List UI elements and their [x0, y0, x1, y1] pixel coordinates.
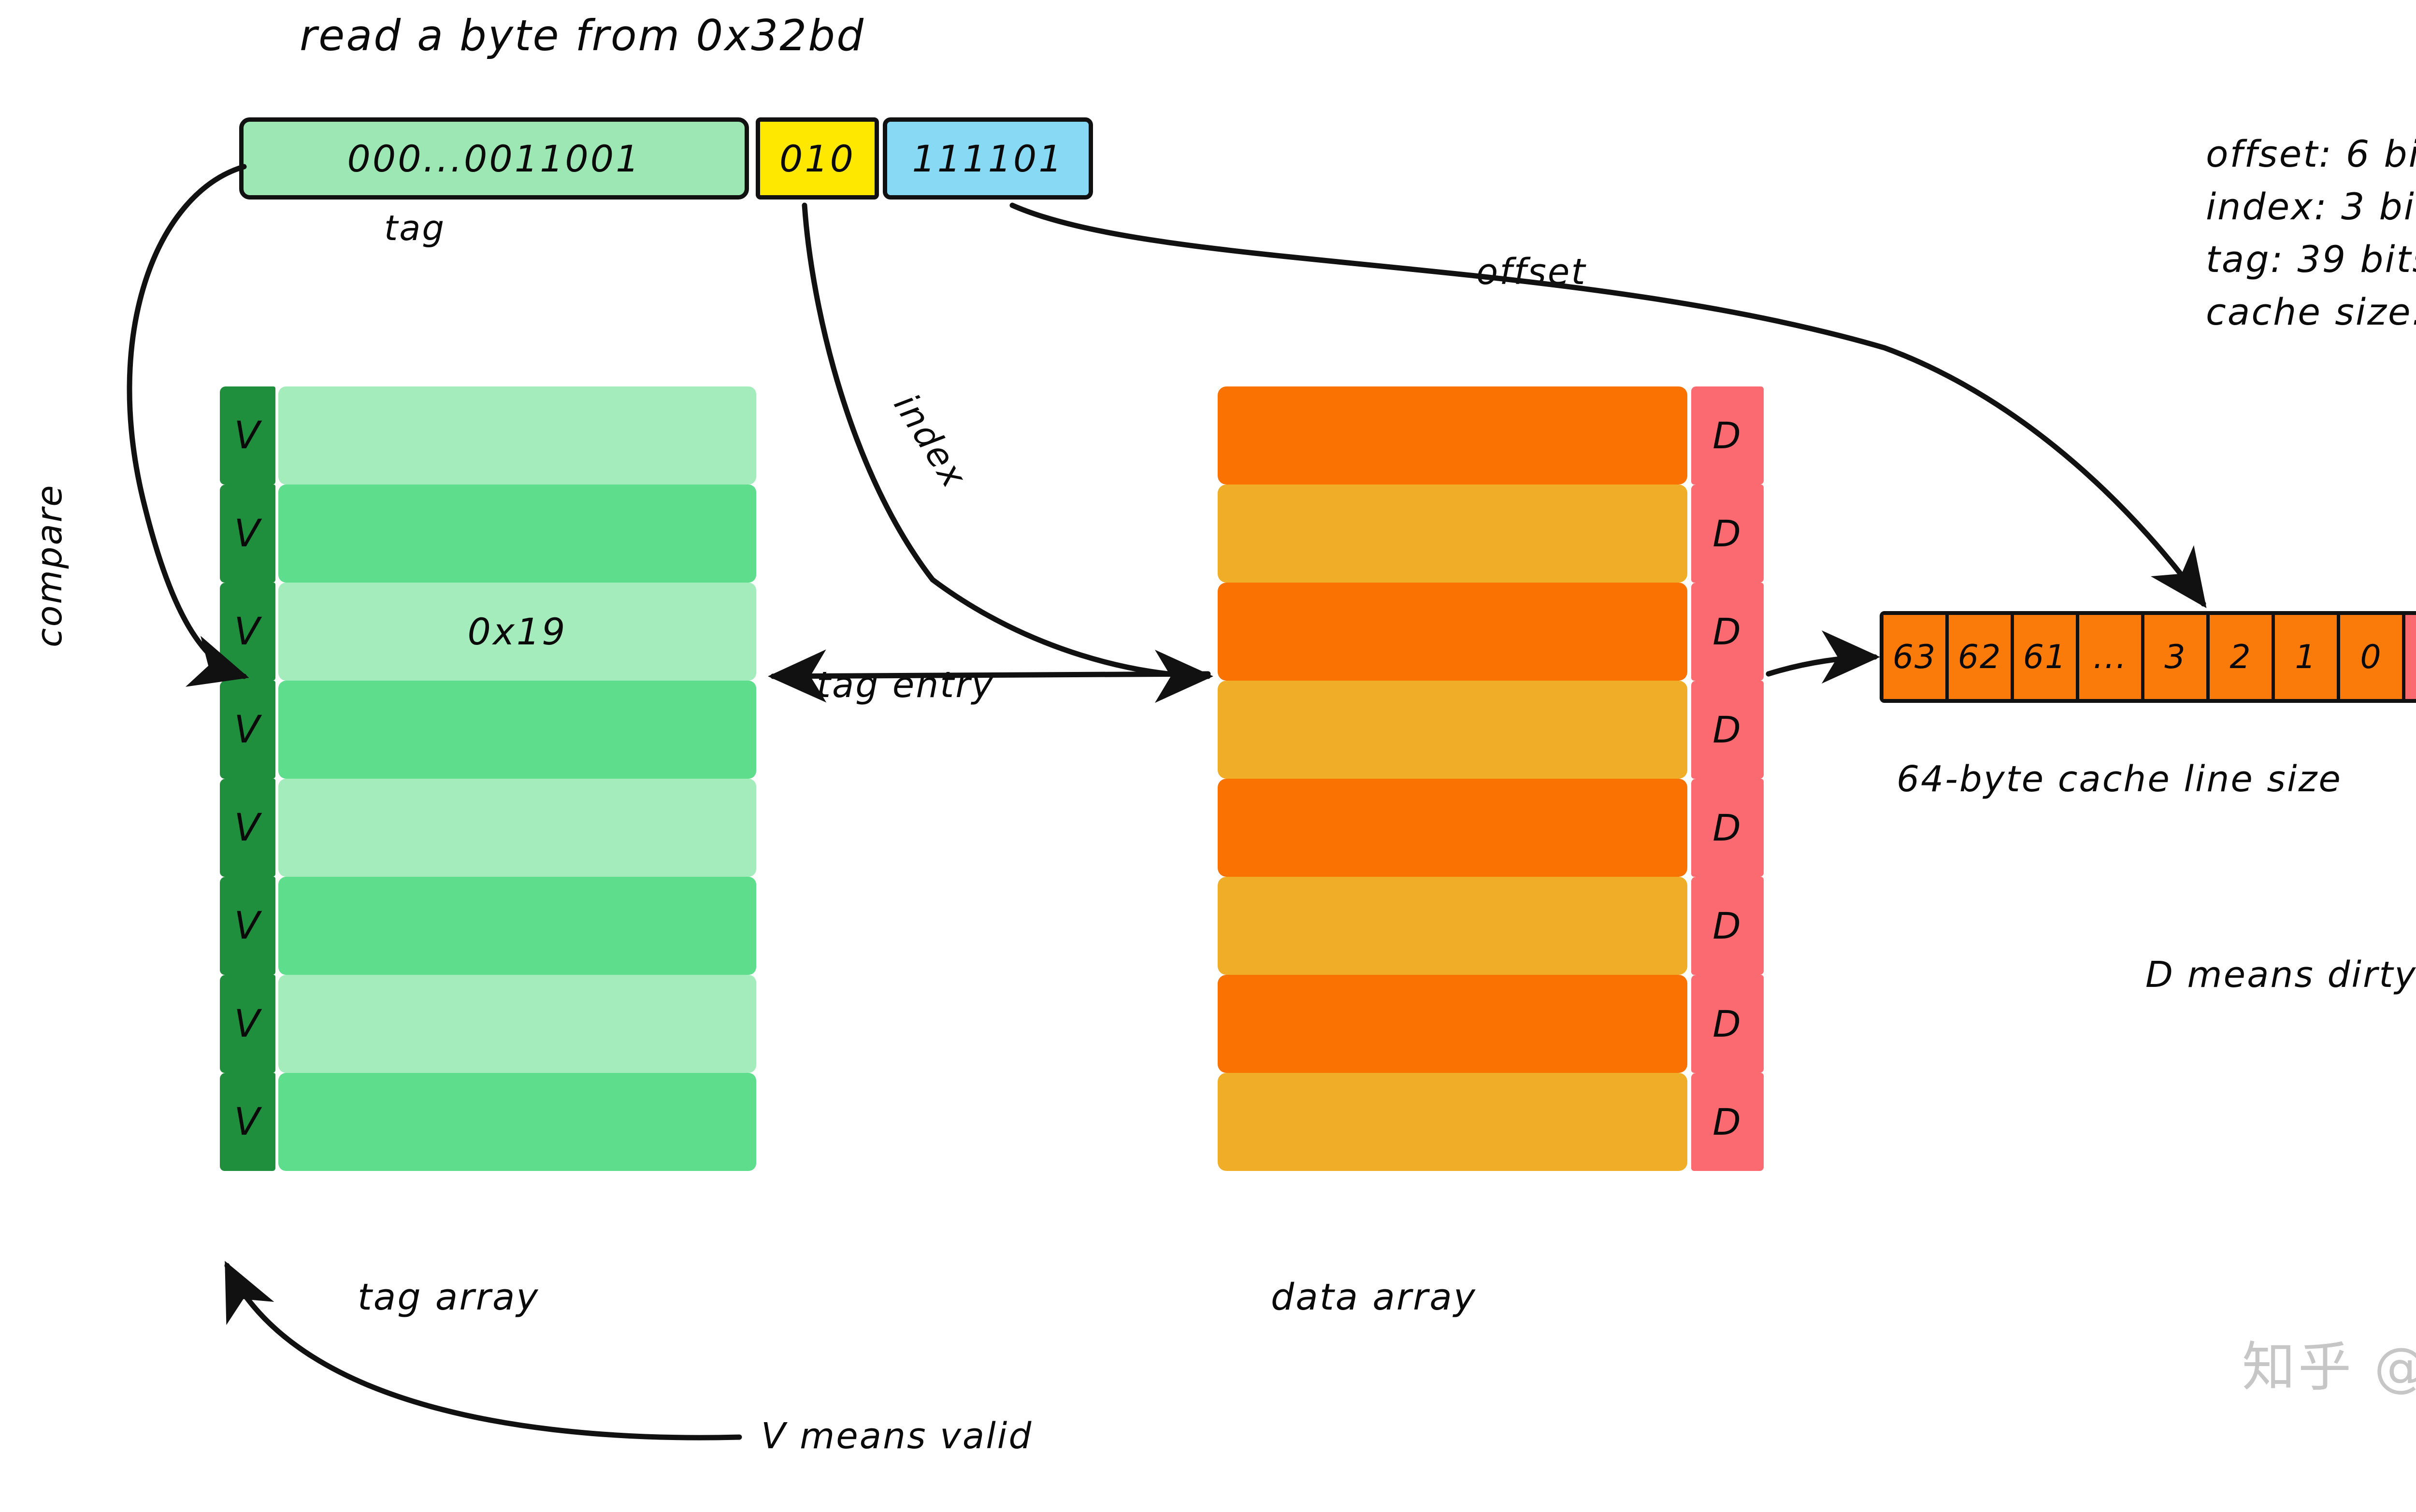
data-array-row: D — [1218, 583, 1764, 681]
data-array-row: D — [1218, 681, 1764, 779]
dirty-bit-cell: D — [1691, 583, 1764, 681]
tag-entry-cell — [278, 485, 756, 583]
param-tag: tag: 39 bits — [2206, 235, 2416, 284]
data-line-cell — [1218, 975, 1687, 1073]
diagram-title: read a byte from 0x32bd — [300, 11, 865, 60]
data-line-cell — [1218, 1073, 1687, 1171]
dirty-bit-cell: D — [1691, 779, 1764, 877]
watermark: 知乎 @smcdef — [2242, 1324, 2416, 1401]
valid-bit-cell: V — [220, 779, 275, 877]
param-index: index: 3 bits — [2206, 182, 2416, 231]
tag-entry-cell — [278, 386, 756, 485]
valid-bit-cell: V — [220, 1073, 275, 1171]
cache-line-byte-cell: ... — [2079, 615, 2144, 699]
dirty-bit-cell: D — [1691, 386, 1764, 485]
diagram-canvas: read a byte from 0x32bd 000...0011001 01… — [0, 0, 2416, 1512]
cache-parameters-list: offset: 6 bits index: 3 bits tag: 39 bit… — [2206, 129, 2416, 340]
address-index-field: 010 — [756, 117, 879, 200]
tag-array: VVV0x19VVVVV — [220, 386, 756, 1171]
valid-bit-cell: V — [220, 877, 275, 975]
data-line-cell — [1218, 583, 1687, 681]
param-cache-size: cache size: 512 bytes — [2206, 287, 2416, 336]
tag-entry-annotation: tag entry — [817, 664, 994, 706]
data-array-row: D — [1218, 779, 1764, 877]
valid-legend: V means valid — [761, 1415, 1033, 1457]
tag-entry-cell — [278, 975, 756, 1073]
tag-array-row: V — [220, 779, 756, 877]
data-array-row: D — [1218, 1073, 1764, 1171]
tag-array-row: V — [220, 386, 756, 485]
dirty-bit-cell: D — [1691, 877, 1764, 975]
tag-array-row: V — [220, 1073, 756, 1171]
compare-annotation: compare — [29, 484, 70, 648]
param-offset: offset: 6 bits — [2206, 129, 2416, 178]
cache-line-byte-cell: 61 — [2014, 615, 2079, 699]
data-line-cell — [1218, 779, 1687, 877]
cache-line-byte-cell: 3 — [2144, 615, 2210, 699]
data-array-row: D — [1218, 877, 1764, 975]
cache-line-label: 64-byte cache line size — [1897, 758, 2342, 800]
data-array-row: D — [1218, 386, 1764, 485]
dirty-bit-cell: D — [1691, 975, 1764, 1073]
tag-array-row: V — [220, 485, 756, 583]
address-bitfields: 000...0011001 010 111101 — [239, 117, 1093, 200]
arrow-index — [805, 205, 1208, 676]
cache-line-strip: 636261...3210D — [1880, 611, 2416, 703]
valid-bit-cell: V — [220, 975, 275, 1073]
cache-line-dirty-cell: D — [2405, 615, 2416, 699]
cache-line-byte-cell: 62 — [1949, 615, 2014, 699]
tag-entry-cell — [278, 779, 756, 877]
tag-array-label: tag array — [358, 1275, 539, 1318]
data-line-cell — [1218, 681, 1687, 779]
tag-entry-cell: 0x19 — [278, 583, 756, 681]
data-line-cell — [1218, 877, 1687, 975]
offset-annotation: offset — [1476, 251, 1586, 293]
data-array-row: D — [1218, 485, 1764, 583]
data-array-label: data array — [1271, 1275, 1477, 1318]
cache-line-byte-cell: 2 — [2210, 615, 2275, 699]
data-array: DDDDDDDD — [1218, 386, 1764, 1171]
valid-bit-cell: V — [220, 386, 275, 485]
tag-array-row: V — [220, 681, 756, 779]
cache-line-byte-cell: 1 — [2275, 615, 2340, 699]
address-tag-field: 000...0011001 — [239, 117, 749, 200]
dirty-legend: D means dirty — [2145, 954, 2416, 996]
index-annotation: index — [886, 386, 975, 495]
tag-array-row: V0x19 — [220, 583, 756, 681]
tag-entry-cell — [278, 681, 756, 779]
valid-bit-cell: V — [220, 583, 275, 681]
arrow-line-expand — [1769, 657, 1875, 674]
dirty-bit-cell: D — [1691, 1073, 1764, 1171]
cache-line-byte-cell: 0 — [2340, 615, 2405, 699]
dirty-bit-cell: D — [1691, 485, 1764, 583]
cache-line-byte-cell: 63 — [1884, 615, 1949, 699]
tag-array-row: V — [220, 877, 756, 975]
data-line-cell — [1218, 386, 1687, 485]
address-offset-field: 111101 — [883, 117, 1093, 200]
dirty-bit-cell: D — [1691, 681, 1764, 779]
valid-bit-cell: V — [220, 681, 275, 779]
tag-array-row: V — [220, 975, 756, 1073]
data-line-cell — [1218, 485, 1687, 583]
tag-field-caption: tag — [384, 208, 446, 248]
valid-bit-cell: V — [220, 485, 275, 583]
tag-entry-cell — [278, 877, 756, 975]
tag-entry-cell — [278, 1073, 756, 1171]
data-array-row: D — [1218, 975, 1764, 1073]
